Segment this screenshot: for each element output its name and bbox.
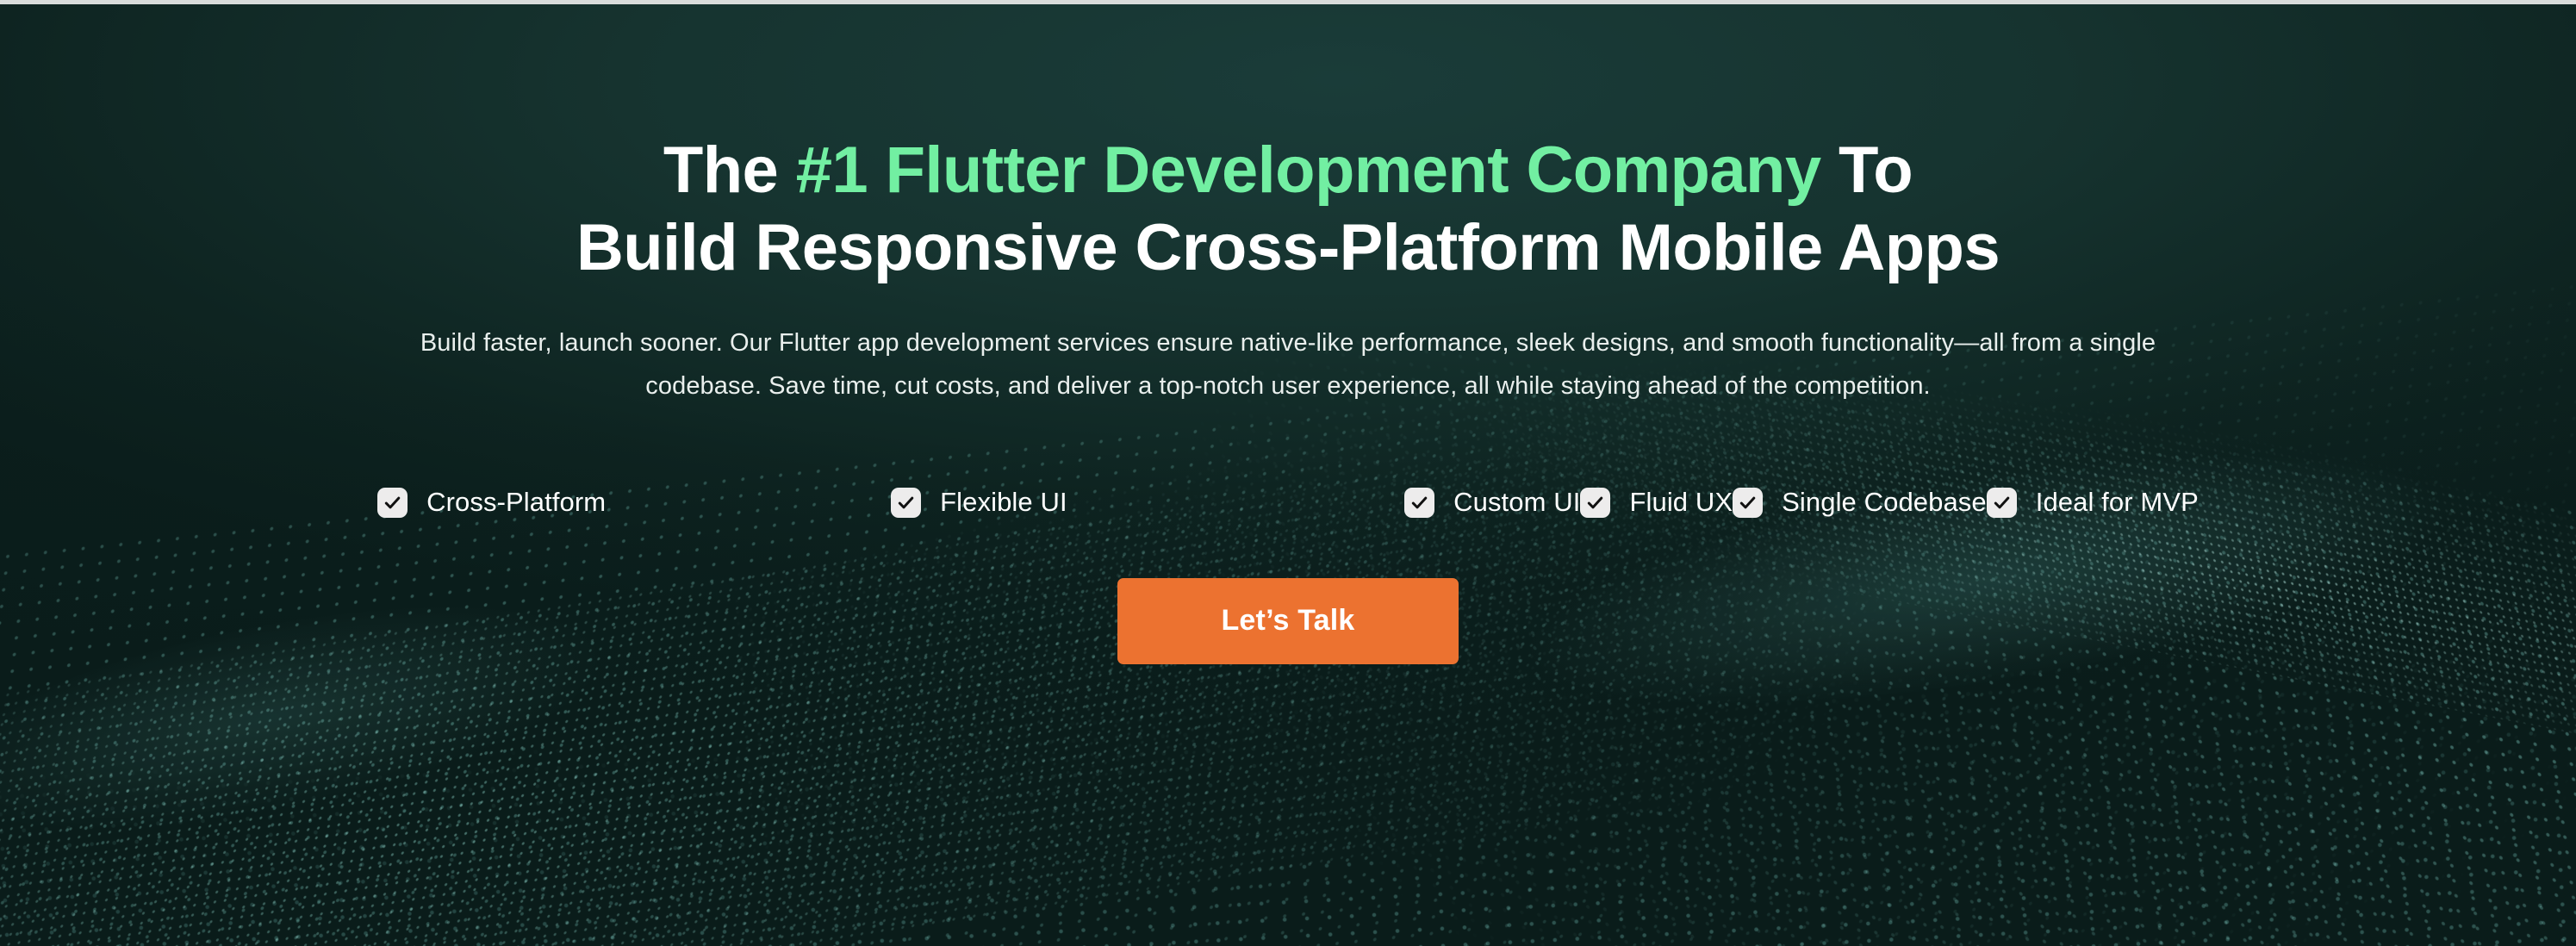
feature-item: Flexible UI	[891, 467, 1404, 538]
feature-item: Custom UI	[1404, 467, 1580, 538]
feature-item: Fluid UX	[1580, 467, 1733, 538]
check-icon	[1404, 488, 1434, 518]
hero-subtitle: Build faster, launch sooner. Our Flutter…	[370, 288, 2206, 408]
check-icon	[891, 488, 921, 518]
feature-item: Single Codebase	[1733, 467, 1987, 538]
browser-top-strip	[0, 0, 2576, 4]
feature-label: Single Codebase	[1782, 487, 1987, 518]
check-icon	[377, 488, 408, 518]
feature-checklist: Cross-Platform Flexible UI Custom UI	[377, 467, 2199, 538]
check-icon	[1987, 488, 2017, 518]
check-icon	[1580, 488, 1610, 518]
feature-item: Ideal for MVP	[1987, 467, 2199, 538]
feature-label: Ideal for MVP	[2036, 487, 2199, 518]
headline-line-2: Build Responsive Cross-Platform Mobile A…	[576, 211, 2000, 284]
feature-label: Flexible UI	[940, 487, 1067, 518]
feature-label: Cross-Platform	[426, 487, 606, 518]
feature-label: Custom UI	[1453, 487, 1580, 518]
headline-line-1-before: The	[663, 134, 796, 207]
headline-line-1-after: To	[1821, 134, 1913, 207]
page-title: The #1 Flutter Development Company To Bu…	[576, 4, 2000, 288]
feature-item: Cross-Platform	[377, 467, 891, 538]
headline-accent: #1 Flutter Development Company	[796, 134, 1821, 207]
check-icon	[1733, 488, 1763, 518]
feature-label: Fluid UX	[1629, 487, 1733, 518]
lets-talk-button[interactable]: Let’s Talk	[1117, 578, 1459, 664]
hero-content: The #1 Flutter Development Company To Bu…	[0, 4, 2576, 946]
hero-section: The #1 Flutter Development Company To Bu…	[0, 0, 2576, 946]
